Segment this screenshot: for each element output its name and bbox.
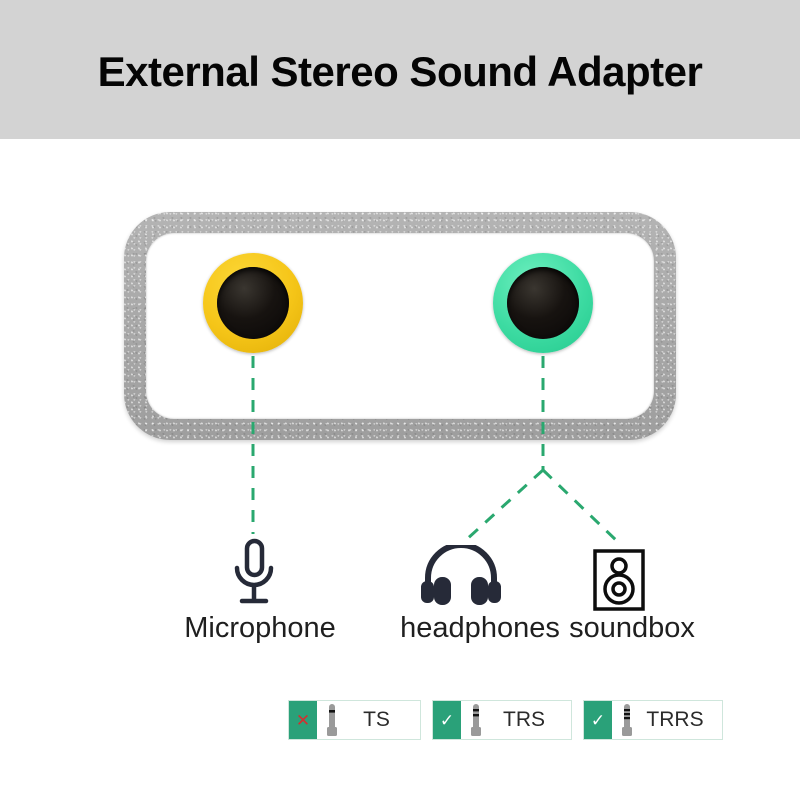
badge-trrs-mark: ✓	[584, 701, 612, 739]
audio-output-port[interactable]	[493, 253, 593, 353]
badge-ts-label: TS	[347, 701, 420, 739]
page-title: External Stereo Sound Adapter	[0, 48, 800, 96]
badge-ts[interactable]: ✕ TS	[288, 700, 421, 740]
microphone-icon	[225, 538, 283, 613]
badge-trs-plug-icon	[461, 701, 491, 739]
headphones-icon	[418, 545, 504, 612]
microphone-port-ring	[203, 253, 303, 353]
badge-trrs-plug-icon	[612, 701, 642, 739]
badge-ts-mark: ✕	[289, 701, 317, 739]
audio-output-port-hole	[507, 267, 579, 339]
plug-compatibility-row: ✕ TS ✓ TRS ✓	[0, 700, 800, 744]
connector-out-left	[466, 470, 543, 540]
speaker-icon	[592, 548, 646, 617]
product-infographic: External Stereo Sound Adapter	[0, 0, 800, 800]
microphone-port[interactable]	[203, 253, 303, 353]
badge-trs-label: TRS	[491, 701, 571, 739]
badge-trs-mark: ✓	[433, 701, 461, 739]
header-band: External Stereo Sound Adapter	[0, 0, 800, 139]
badge-ts-plug-icon	[317, 701, 347, 739]
microphone-port-hole	[217, 267, 289, 339]
badge-trrs-label: TRRS	[642, 701, 722, 739]
device-label-soundbox: soundbox	[502, 612, 762, 645]
badge-trrs[interactable]: ✓ TRRS	[583, 700, 723, 740]
audio-output-port-ring	[493, 253, 593, 353]
connector-out-right	[543, 470, 618, 542]
badge-trs[interactable]: ✓ TRS	[432, 700, 572, 740]
sound-adapter-body	[124, 212, 676, 440]
